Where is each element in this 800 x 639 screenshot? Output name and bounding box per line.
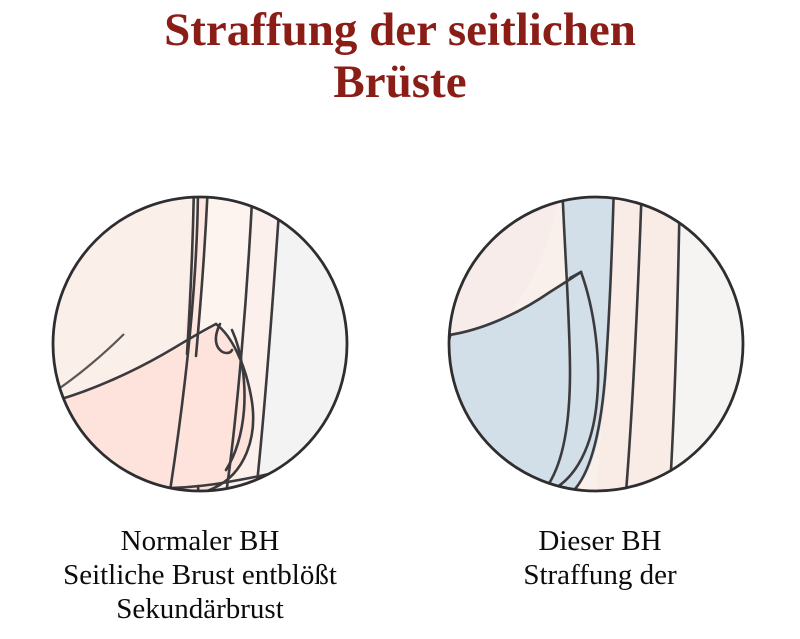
- caption-left-line-3: Sekundärbrust: [0, 592, 400, 626]
- caption-left-line-2: Seitliche Brust entblößt: [0, 558, 400, 592]
- caption-left: Normaler BH Seitliche Brust entblößt Sek…: [0, 524, 400, 626]
- illustration-left: [48, 186, 352, 506]
- normal-bra-illustration: [48, 186, 352, 506]
- page-title-line-2: Brüste: [0, 56, 800, 108]
- caption-left-line-1: Normaler BH: [0, 524, 400, 558]
- caption-right-line-1: Dieser BH: [400, 524, 800, 558]
- caption-right: Dieser BH Straffung der: [400, 524, 800, 592]
- caption-right-line-2: Straffung der: [400, 558, 800, 592]
- illustration-row: [0, 186, 800, 506]
- illustration-right: [444, 186, 748, 506]
- this-bra-illustration: [444, 186, 748, 506]
- page-title-line-1: Straffung der seitlichen: [0, 4, 800, 56]
- page-title: Straffung der seitlichen Brüste: [0, 4, 800, 108]
- product-infographic: Straffung der seitlichen Brüste: [0, 0, 800, 639]
